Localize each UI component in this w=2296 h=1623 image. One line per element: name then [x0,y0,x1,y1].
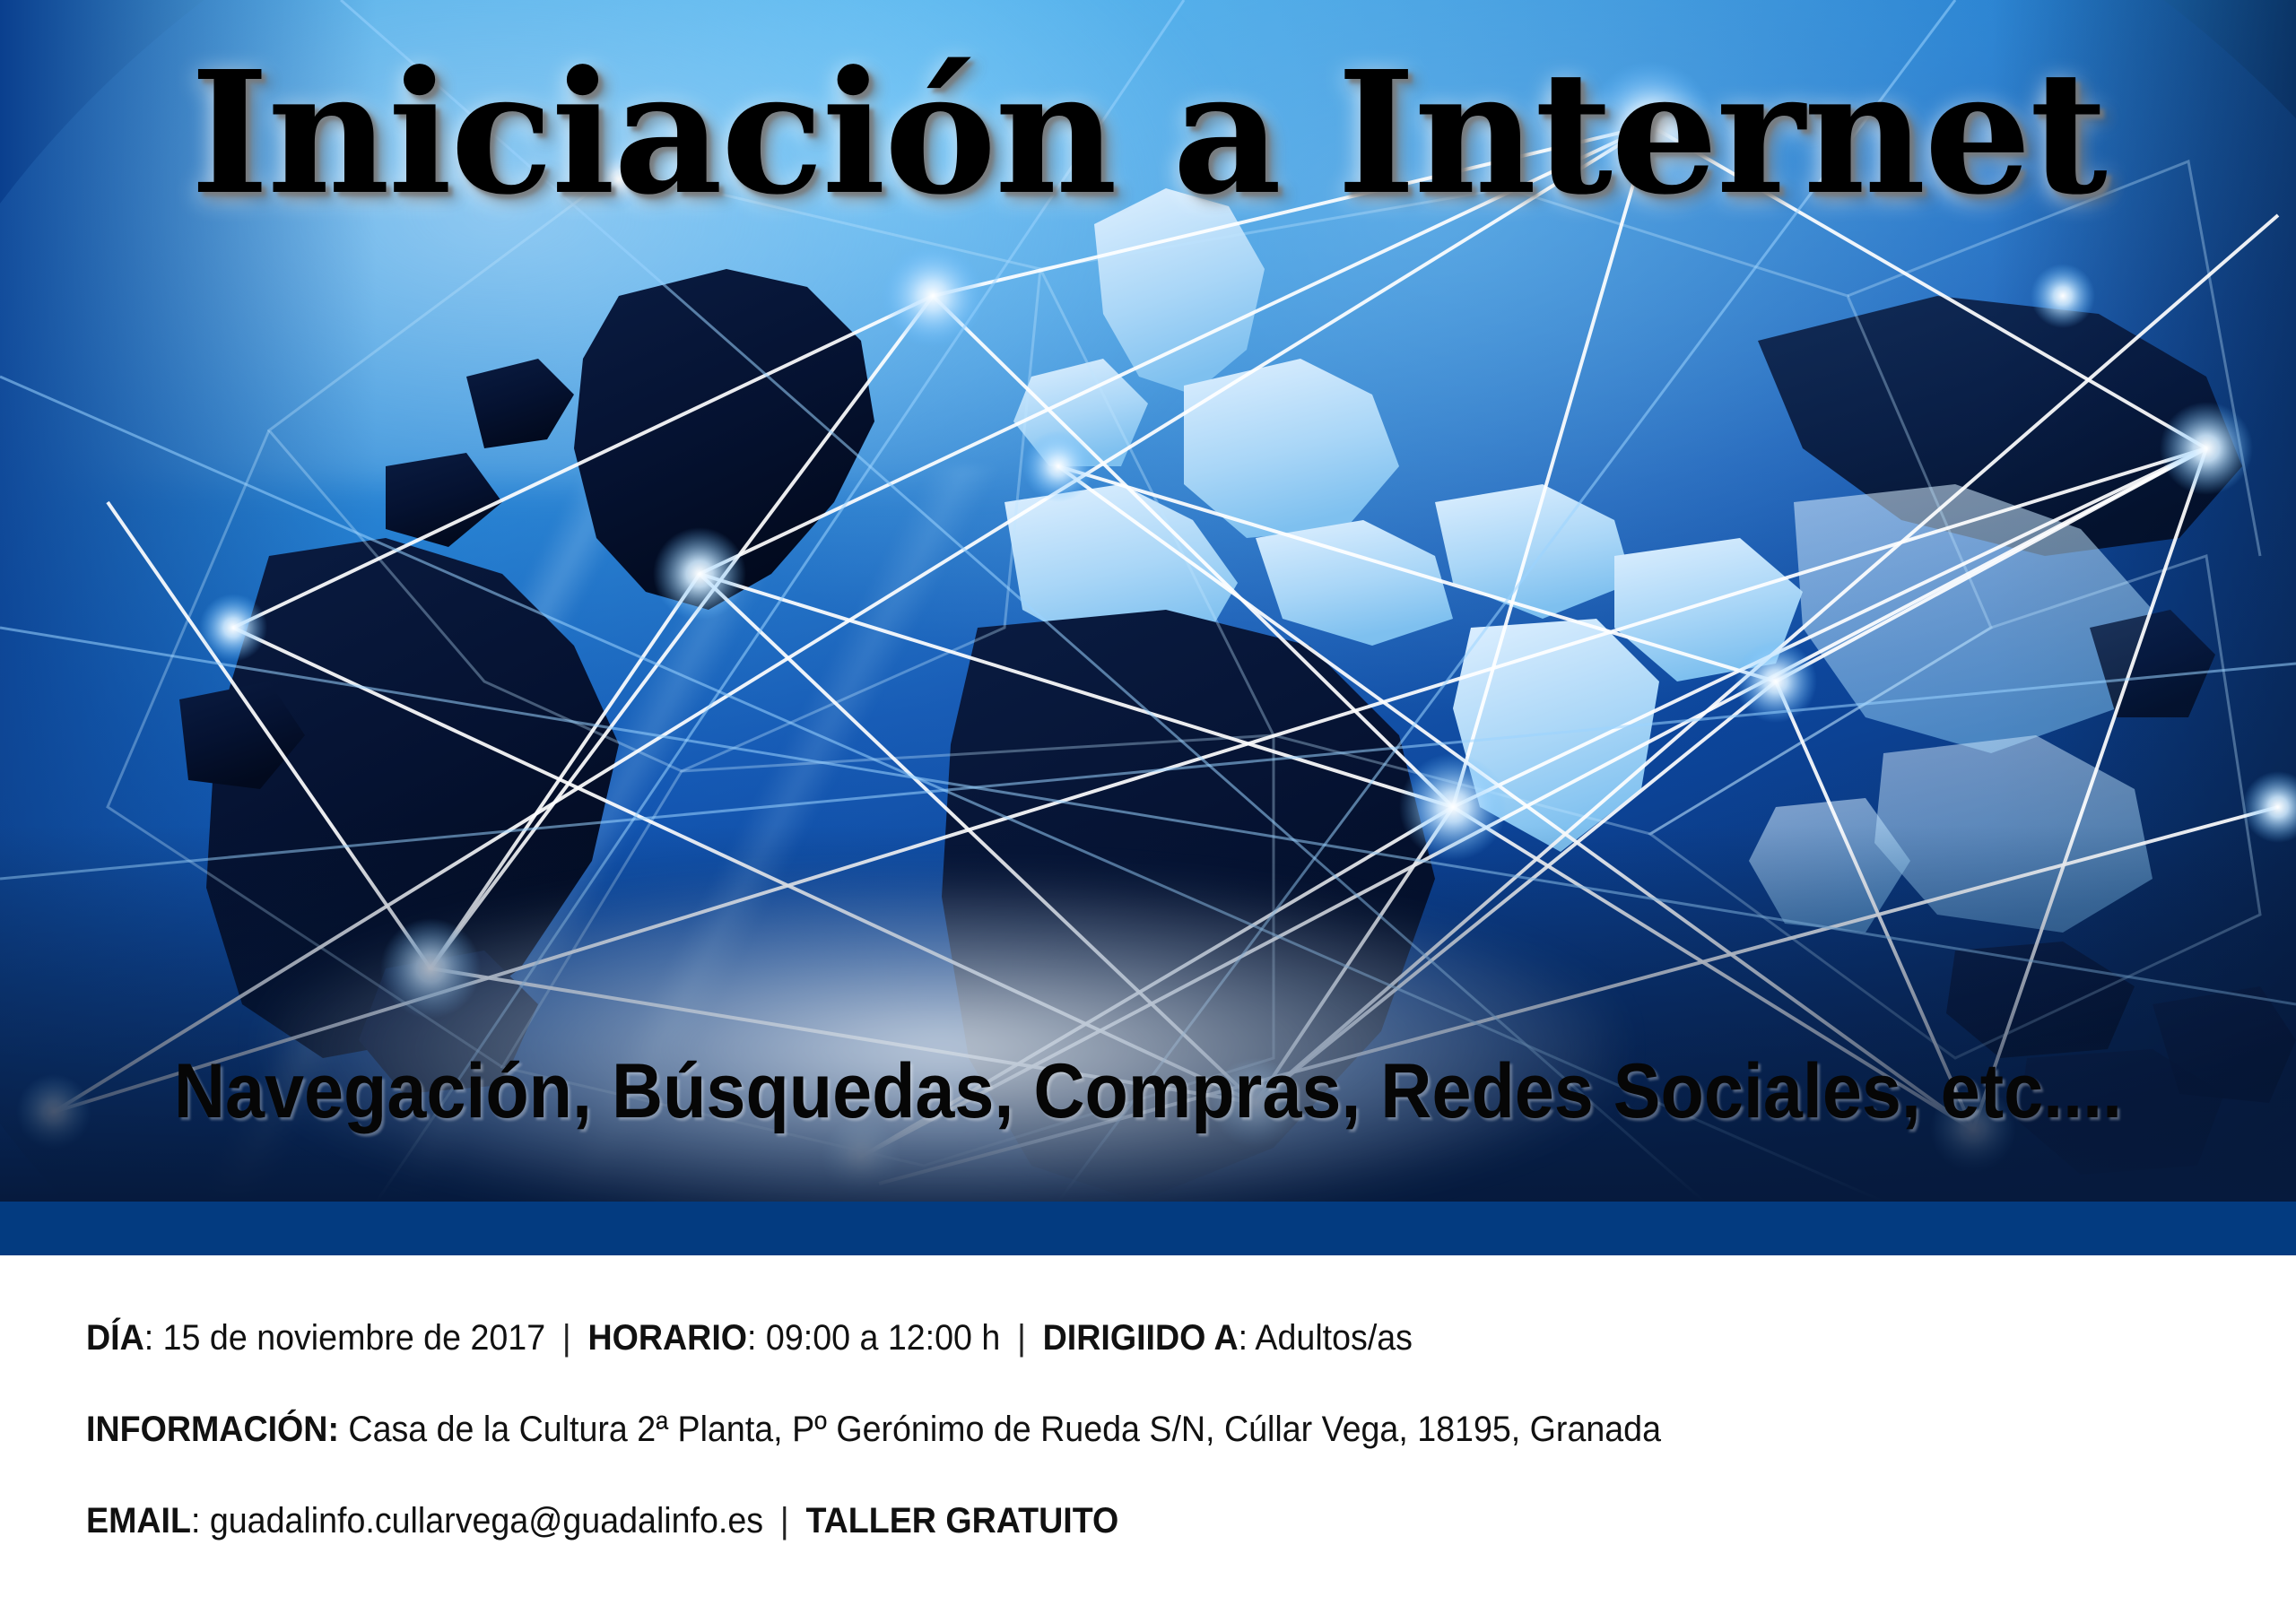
poster-root: Iniciación a Internet Iniciación a Inter… [0,0,2296,1623]
time-value: : 09:00 a 12:00 h [747,1318,1000,1358]
horizon-haze [269,879,1614,1202]
audience-value: : Adultos/as [1239,1318,1413,1358]
info-line-schedule: DÍA: 15 de noviembre de 2017|HORARIO: 09… [86,1320,1688,1356]
email-value[interactable]: : guadalinfo.cullarvega@guadalinfo.es [191,1501,763,1541]
day-label: DÍA [86,1318,144,1358]
day-value: : 15 de noviembre de 2017 [144,1318,545,1358]
separator-3: | [763,1503,805,1539]
time-label: HORARIO [587,1318,747,1358]
info-section: DÍA: 15 de noviembre de 2017|HORARIO: 09… [0,1255,2296,1623]
info-lines: DÍA: 15 de noviembre de 2017|HORARIO: 09… [86,1320,1790,1539]
information-label: INFORMACIÓN: [86,1410,339,1449]
info-line-location: INFORMACIÓN: Casa de la Cultura 2ª Plant… [86,1411,1688,1447]
email-label: EMAIL [86,1501,191,1541]
separator-1: | [545,1320,587,1356]
free-workshop-badge: TALLER GRATUITO [805,1501,1118,1541]
information-value: Casa de la Cultura 2ª Planta, Pº Gerónim… [348,1410,1661,1449]
audience-label: DIRIGIIDO A [1043,1318,1239,1358]
info-line-email: EMAIL: guadalinfo.cullarvega@guadalinfo.… [86,1503,1688,1539]
accent-bar [0,1202,2296,1255]
hero-globe-image: Iniciación a Internet Iniciación a Inter… [0,0,2296,1202]
page-subtitle: Navegación, Búsquedas, Compras, Redes So… [91,1047,2204,1136]
separator-2: | [1000,1320,1042,1356]
